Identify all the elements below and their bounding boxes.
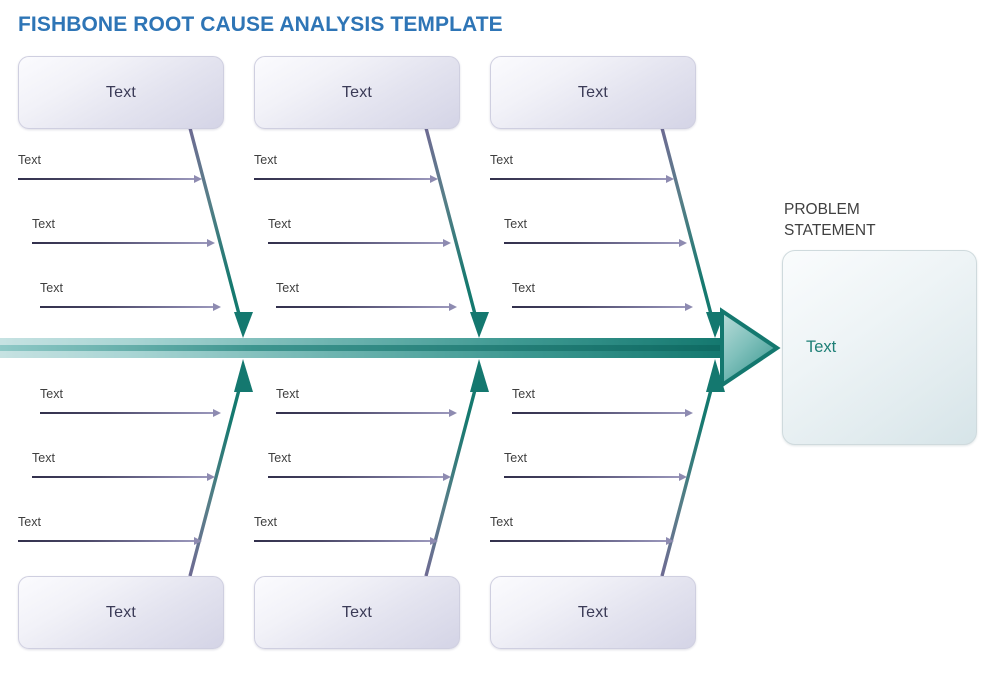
cause-arrow-icon — [679, 239, 687, 247]
cause-line — [512, 412, 685, 414]
cause-row-bottom-2-3[interactable]: Text — [254, 508, 430, 542]
cause-label: Text — [32, 451, 55, 465]
cause-line — [490, 178, 666, 180]
category-label: Text — [106, 84, 136, 102]
cause-line — [32, 242, 207, 244]
cause-label: Text — [490, 153, 513, 167]
cause-arrow-icon — [194, 537, 202, 545]
spine-arrow — [0, 311, 777, 385]
category-box-bottom-1[interactable]: Text — [18, 576, 224, 649]
category-box-bottom-3[interactable]: Text — [490, 576, 696, 649]
cause-label: Text — [276, 281, 299, 295]
cause-label: Text — [254, 153, 277, 167]
cause-arrow-icon — [679, 473, 687, 481]
cause-row-bottom-3-3[interactable]: Text — [490, 508, 666, 542]
cause-arrow-icon — [430, 175, 438, 183]
cause-row-top-2-3[interactable]: Text — [276, 274, 449, 308]
cause-row-bottom-3-1[interactable]: Text — [512, 380, 685, 414]
cause-label: Text — [18, 153, 41, 167]
cause-label: Text — [512, 387, 535, 401]
cause-line — [254, 178, 430, 180]
cause-line — [504, 242, 679, 244]
cause-arrow-icon — [666, 537, 674, 545]
cause-row-bottom-1-1[interactable]: Text — [40, 380, 213, 414]
fishbone-diagram-canvas: FISHBONE ROOT CAUSE ANALYSIS TEMPLATE — [0, 0, 994, 683]
cause-label: Text — [254, 515, 277, 529]
cause-row-top-2-2[interactable]: Text — [268, 210, 443, 244]
problem-statement-heading-line2: STATEMENT — [784, 220, 876, 241]
cause-line — [268, 242, 443, 244]
cause-label: Text — [32, 217, 55, 231]
category-label: Text — [342, 604, 372, 622]
cause-line — [32, 476, 207, 478]
cause-label: Text — [512, 281, 535, 295]
cause-row-bottom-1-2[interactable]: Text — [32, 444, 207, 478]
cause-line — [40, 306, 213, 308]
cause-arrow-icon — [430, 537, 438, 545]
cause-row-bottom-3-2[interactable]: Text — [504, 444, 679, 478]
cause-label: Text — [40, 387, 63, 401]
cause-line — [18, 540, 194, 542]
cause-line — [490, 540, 666, 542]
cause-row-top-2-1[interactable]: Text — [254, 146, 430, 180]
cause-arrow-icon — [194, 175, 202, 183]
cause-arrow-icon — [213, 303, 221, 311]
cause-label: Text — [18, 515, 41, 529]
cause-line — [512, 306, 685, 308]
category-box-bottom-2[interactable]: Text — [254, 576, 460, 649]
problem-statement-box[interactable]: Text — [782, 250, 977, 445]
cause-arrow-icon — [685, 303, 693, 311]
cause-label: Text — [504, 217, 527, 231]
cause-row-top-1-1[interactable]: Text — [18, 146, 194, 180]
cause-line — [504, 476, 679, 478]
cause-arrow-icon — [443, 239, 451, 247]
cause-row-bottom-2-2[interactable]: Text — [268, 444, 443, 478]
cause-row-top-3-2[interactable]: Text — [504, 210, 679, 244]
category-label: Text — [342, 84, 372, 102]
category-box-top-1[interactable]: Text — [18, 56, 224, 129]
cause-row-top-1-2[interactable]: Text — [32, 210, 207, 244]
cause-arrow-icon — [213, 409, 221, 417]
cause-label: Text — [40, 281, 63, 295]
cause-row-top-1-3[interactable]: Text — [40, 274, 213, 308]
cause-row-top-3-3[interactable]: Text — [512, 274, 685, 308]
category-label: Text — [578, 84, 608, 102]
category-box-top-2[interactable]: Text — [254, 56, 460, 129]
problem-statement-heading: PROBLEM STATEMENT — [784, 199, 876, 241]
category-label: Text — [106, 604, 136, 622]
cause-line — [40, 412, 213, 414]
cause-arrow-icon — [449, 409, 457, 417]
cause-row-top-3-1[interactable]: Text — [490, 146, 666, 180]
category-box-top-3[interactable]: Text — [490, 56, 696, 129]
cause-label: Text — [490, 515, 513, 529]
cause-line — [254, 540, 430, 542]
cause-arrow-icon — [449, 303, 457, 311]
cause-line — [276, 306, 449, 308]
cause-label: Text — [504, 451, 527, 465]
cause-arrow-icon — [443, 473, 451, 481]
cause-label: Text — [268, 217, 291, 231]
cause-arrow-icon — [666, 175, 674, 183]
cause-line — [18, 178, 194, 180]
cause-label: Text — [268, 451, 291, 465]
cause-arrow-icon — [207, 473, 215, 481]
cause-label: Text — [276, 387, 299, 401]
cause-arrow-icon — [207, 239, 215, 247]
cause-row-bottom-1-3[interactable]: Text — [18, 508, 194, 542]
problem-statement-heading-line1: PROBLEM — [784, 199, 876, 220]
cause-arrow-icon — [685, 409, 693, 417]
category-label: Text — [578, 604, 608, 622]
cause-row-bottom-2-1[interactable]: Text — [276, 380, 449, 414]
cause-line — [276, 412, 449, 414]
cause-line — [268, 476, 443, 478]
problem-statement-value: Text — [783, 338, 836, 357]
